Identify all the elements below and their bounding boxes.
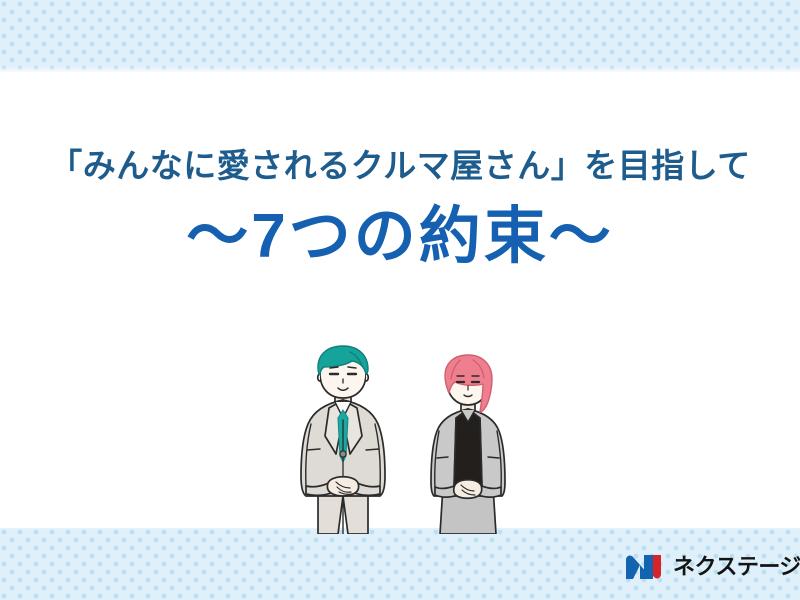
headline-secondary: 〜7つの約束〜 <box>0 204 800 269</box>
nextage-wordmark: ネクステージ <box>673 556 800 578</box>
nextage-n-mark-icon <box>624 553 666 581</box>
promo-banner: 「みんなに愛されるクルマ屋さん」を目指して 〜7つの約束〜 <box>0 0 800 600</box>
nextage-logo-lockup[interactable]: ネクステージ <box>624 551 800 583</box>
dot-pattern-band-top <box>0 0 800 72</box>
male-staff-figure <box>301 346 385 534</box>
headline-primary: 「みんなに愛されるクルマ屋さん」を目指して <box>0 146 800 186</box>
headline-block: 「みんなに愛されるクルマ屋さん」を目指して 〜7つの約束〜 <box>0 146 800 269</box>
staff-illustration <box>280 336 540 534</box>
female-staff-figure <box>431 355 505 534</box>
staff-illustration-svg <box>280 336 540 534</box>
